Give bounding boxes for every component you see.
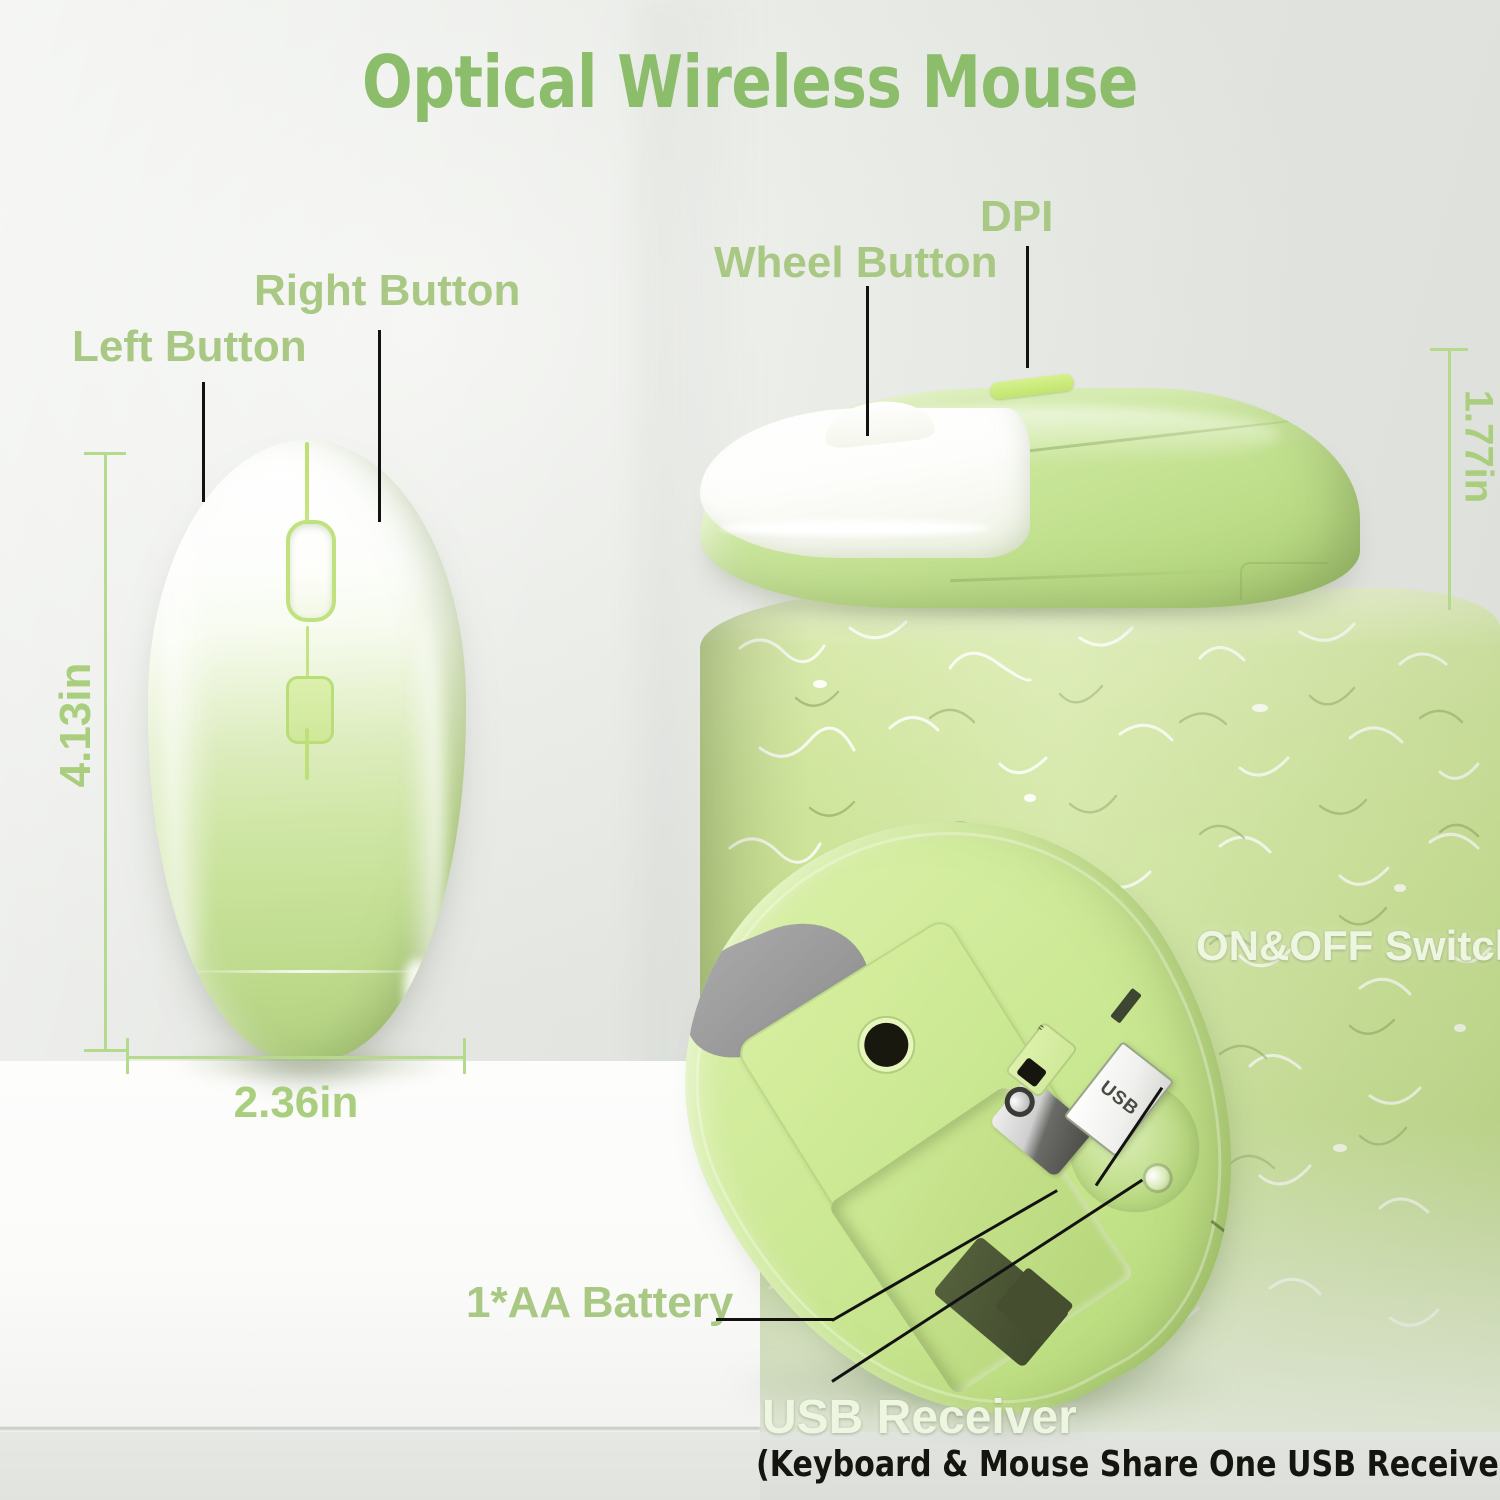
dimension-cap-top xyxy=(84,452,126,455)
page-title: Optical Wireless Mouse xyxy=(60,46,1440,118)
callout-dpi-leader xyxy=(1026,246,1029,368)
dimension-width-text: 2.36in xyxy=(126,1078,466,1128)
dimension-height-text: 4.13in xyxy=(51,645,101,805)
dimension-cap-bottom xyxy=(84,1049,126,1052)
dpi-button-top-view xyxy=(286,676,334,744)
mouse-top-view xyxy=(148,440,466,1060)
callout-wheel-button-leader xyxy=(866,286,869,436)
dimension-line-height xyxy=(104,452,107,1052)
callout-right-button-leader xyxy=(378,330,381,522)
dimension-side-height-text: 1.77in xyxy=(1456,367,1500,527)
callout-battery-label: 1*AA Battery xyxy=(466,1278,733,1328)
table-edge-line xyxy=(0,1427,760,1431)
top-view-seam-lower xyxy=(305,728,309,780)
dimension-cap-side-top xyxy=(1430,348,1468,351)
callout-right-button-label: Right Button xyxy=(254,266,520,316)
product-infographic: Optical Wireless Mouse xyxy=(0,0,1500,1500)
callout-usb-receiver-note: (Keyboard & Mouse Share One USB Receiver… xyxy=(756,1444,1500,1485)
top-view-seam-mid xyxy=(306,626,309,682)
callout-left-button-label: Left Button xyxy=(72,322,307,372)
dimension-line-side-height xyxy=(1448,348,1451,610)
top-view-highlight-left xyxy=(162,500,214,970)
callout-usb-receiver-label: USB Receiver xyxy=(762,1390,1077,1445)
callout-battery-leader-h xyxy=(716,1318,834,1321)
dimension-line-width xyxy=(126,1056,466,1059)
dimension-cap-left xyxy=(126,1038,129,1074)
scroll-wheel xyxy=(286,520,336,622)
side-view-button-highlight xyxy=(720,520,990,536)
top-view-highlight-spot xyxy=(404,960,430,1020)
side-view-lower-seam xyxy=(950,569,1250,582)
floor-strip-left xyxy=(0,1432,760,1500)
callout-dpi-label: DPI xyxy=(980,192,1053,242)
callout-left-button-leader xyxy=(202,382,205,502)
dimension-cap-right xyxy=(463,1038,466,1074)
callout-wheel-button-label: Wheel Button xyxy=(714,238,998,288)
side-view-rear-notch xyxy=(1240,562,1328,600)
top-view-bottom-seam xyxy=(167,970,447,973)
switch-knob xyxy=(1016,1057,1047,1088)
mouse-side-view xyxy=(700,362,1360,612)
callout-on-off-switch-label: ON&OFF Switch xyxy=(1196,922,1500,970)
